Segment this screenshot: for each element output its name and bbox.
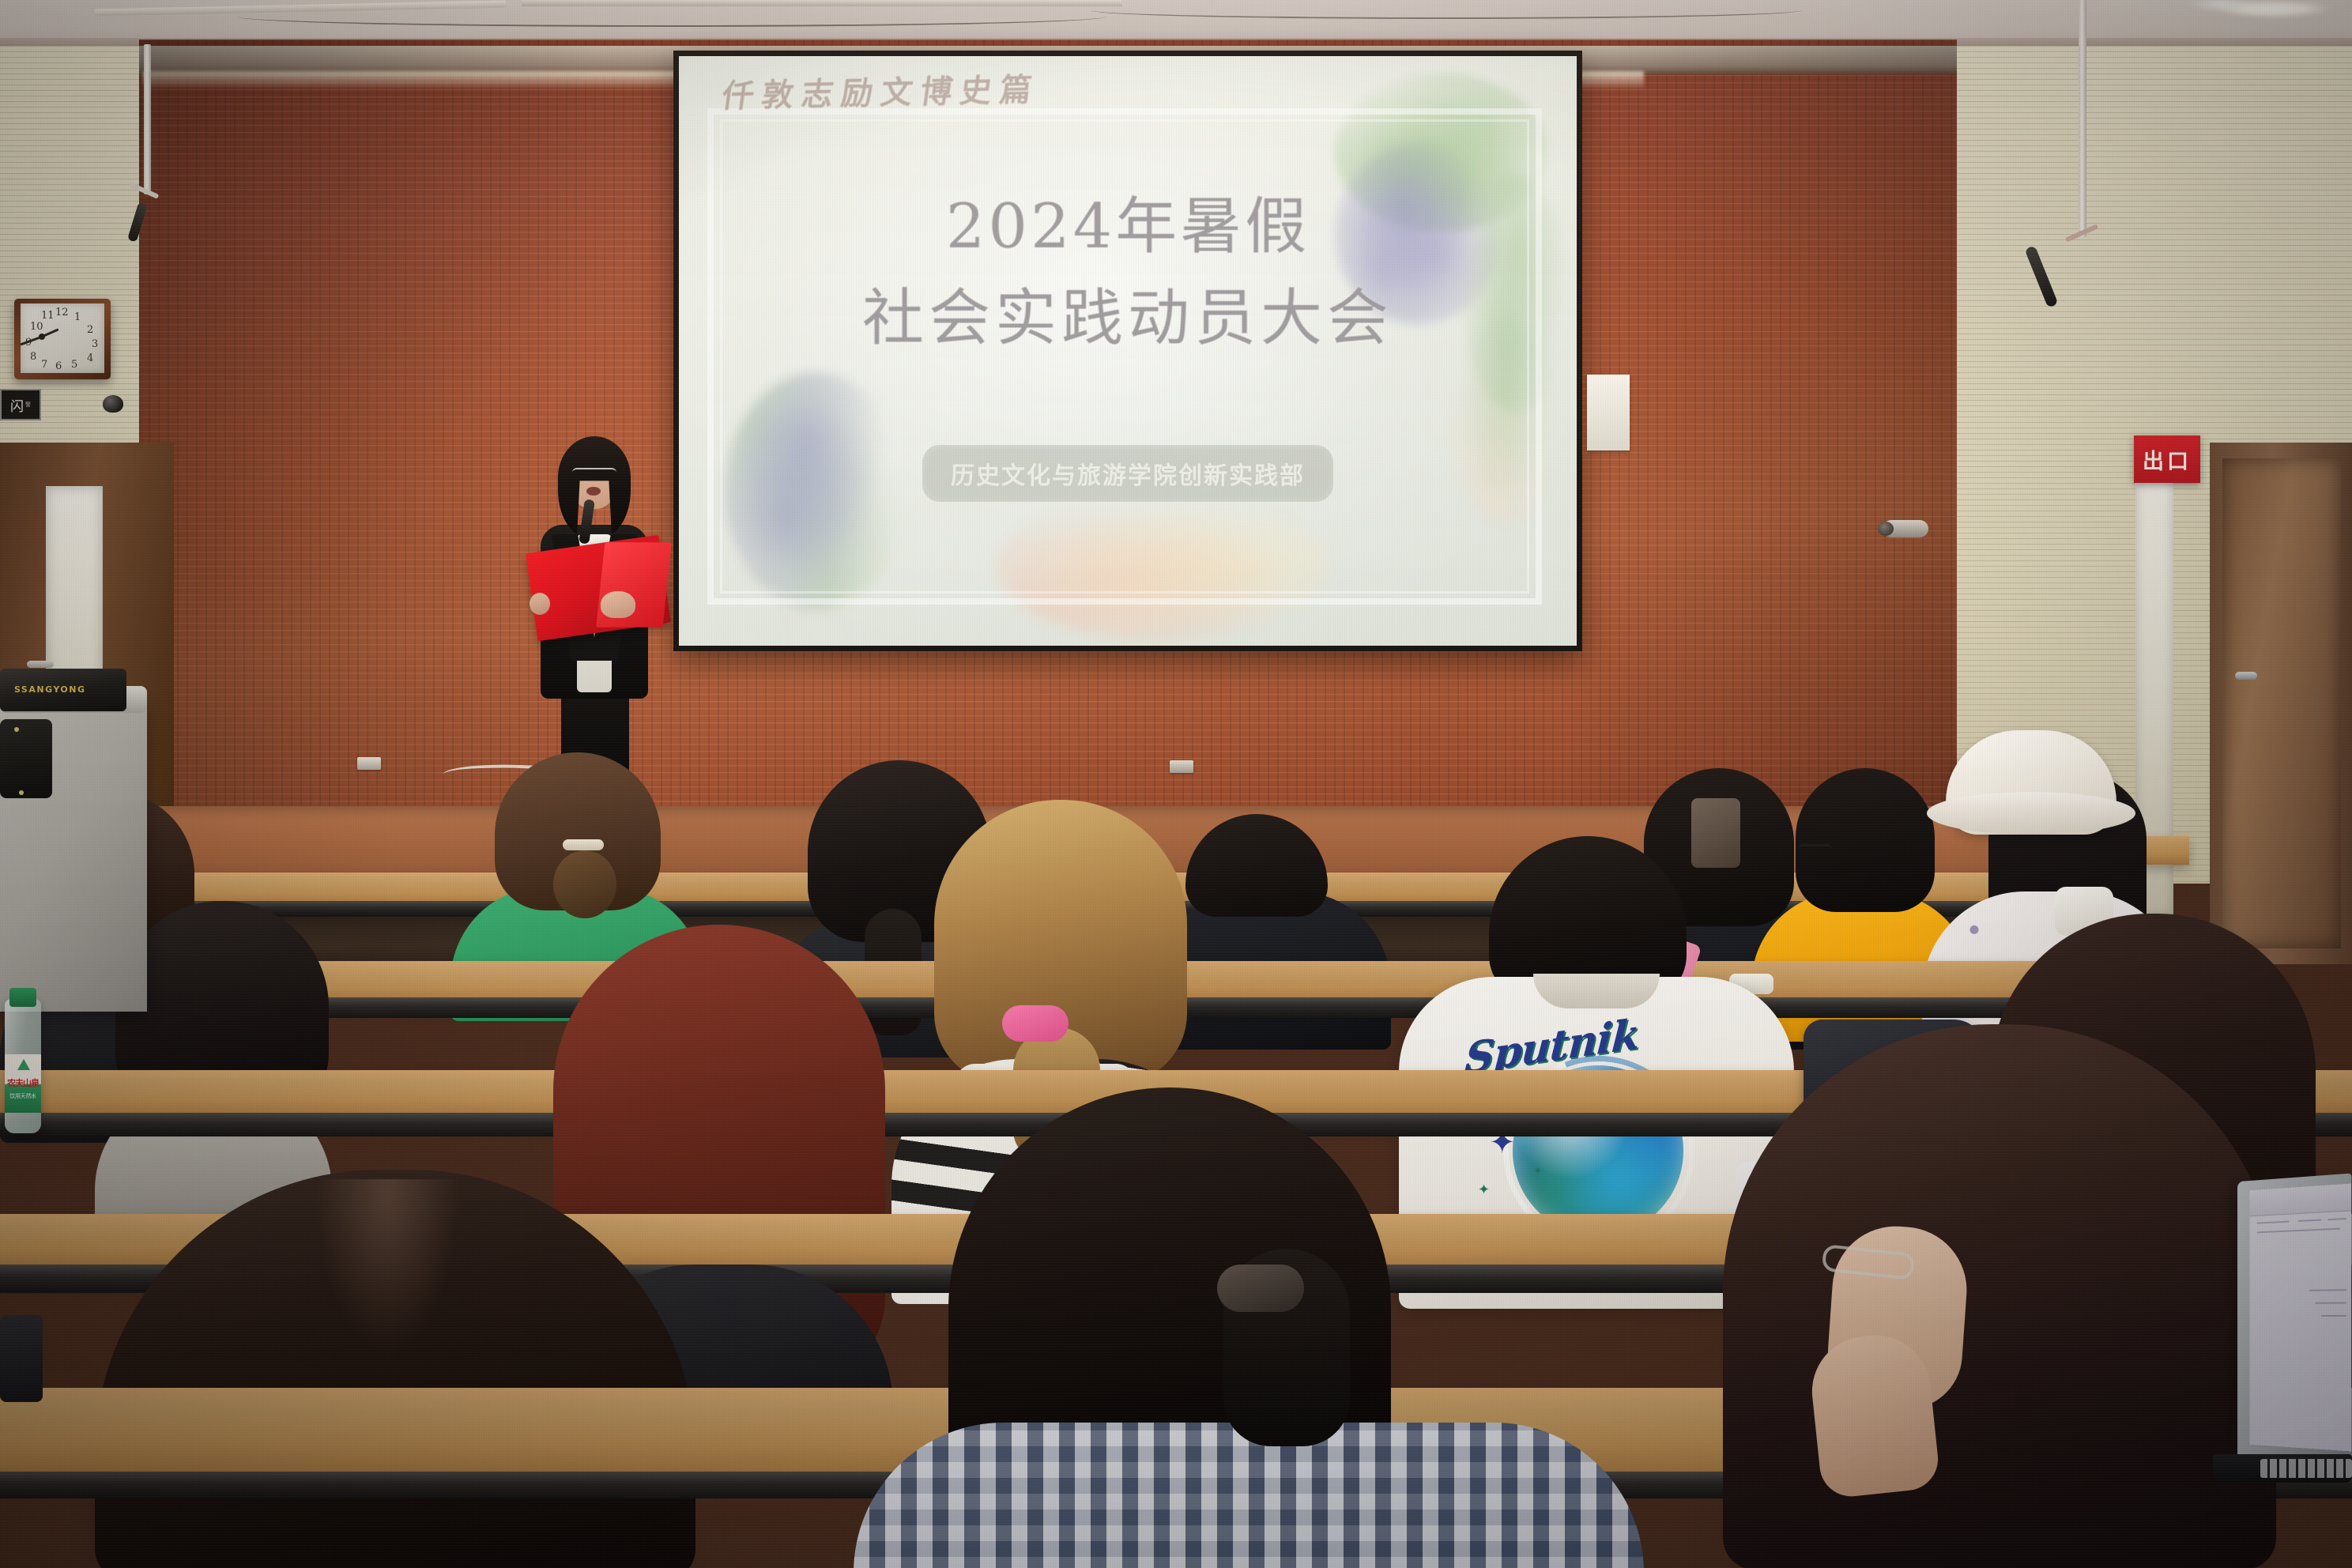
slide-subtitle-label: 历史文化与旅游学院创新实践部	[951, 456, 1305, 491]
clock-numeral: 2	[87, 324, 93, 336]
floor-power-socket	[357, 757, 381, 770]
placard-glyph: 闪	[10, 395, 24, 415]
hair-tie	[563, 839, 604, 850]
eyeglasses-icon	[572, 468, 616, 477]
hair-scrunchie	[1002, 1005, 1069, 1042]
clock-numeral: 11	[41, 310, 55, 322]
laptop-screen[interactable]	[2249, 1184, 2351, 1452]
audience-glasses-woman	[1723, 1024, 2276, 1568]
clock-numeral: 5	[71, 359, 77, 371]
clock-numeral: 4	[87, 352, 93, 364]
right-door[interactable]	[2222, 458, 2341, 948]
lecture-hall-photo: 12 1 2 3 4 5 6 7 8 9 10 11 2:50 闪 警 出口	[0, 0, 2352, 1568]
exit-sign-label: 出口	[2143, 444, 2192, 475]
clock-numeral: 1	[74, 311, 81, 323]
presenter-right-hand	[601, 591, 635, 618]
presenter-left-hand	[530, 593, 550, 615]
ceiling-light-strip	[522, 0, 1122, 6]
slide-title-line-2: 社会实践动员大会	[679, 287, 1577, 352]
audience-hair	[1796, 768, 1935, 912]
female-presenter	[512, 424, 675, 795]
motion-sensor-dome	[103, 395, 123, 413]
bottle-cap	[9, 988, 36, 1007]
placard-sub-glyph: 警	[25, 401, 31, 409]
hair-clip-icon	[1691, 798, 1740, 868]
microphone-pole	[2079, 0, 2086, 237]
clock-numeral: 10	[30, 321, 43, 333]
eyeglasses-icon	[1799, 844, 1832, 854]
ceiling-wire	[237, 6, 1106, 27]
slide-title-block: 2024年暑假 社会实践动员大会	[679, 195, 1577, 352]
slide-inner-border	[720, 119, 1529, 594]
audience-ponytail	[553, 850, 616, 918]
clock-numeral: 7	[41, 359, 47, 371]
clock-numeral: 6	[55, 360, 62, 372]
star-icon: ✦	[1478, 1182, 1490, 1197]
ceiling-wire	[1091, 2, 1802, 19]
smartphone[interactable]	[0, 1315, 43, 1402]
microphone-pole	[144, 44, 151, 194]
exit-sign: 出口	[2134, 435, 2200, 483]
posted-paper-sheet	[1587, 375, 1630, 450]
hair-parting-highlight	[316, 1179, 458, 1353]
audience-plaid-shirt	[854, 1423, 1644, 1568]
bucket-hat-brim	[1927, 792, 2135, 835]
calligraphy-watermark: 仟敦志励文博史篇	[719, 64, 1042, 116]
clock-numeral: 12	[55, 307, 69, 318]
shirt-collar	[1533, 974, 1660, 1008]
panel-screw	[19, 790, 24, 795]
star-icon: ✦	[1533, 1165, 1543, 1176]
clock-numeral: 3	[92, 338, 98, 350]
bottle-subtitle: 饮用天然水	[6, 1092, 40, 1100]
podium-microphone	[27, 661, 54, 668]
wall-placard: 闪 警	[0, 389, 41, 420]
ceiling-lamp-glow	[2186, 0, 2257, 11]
projected-slide: 仟敦志励文博史篇 2024年暑假 社会实践动员大会 历史文化与旅游学院创新实践部	[679, 56, 1577, 646]
slide-title-line-1: 2024年暑假	[679, 195, 1577, 260]
presenter-mouth	[586, 487, 601, 496]
projection-screen: 仟敦志励文博史篇 2024年暑假 社会实践动员大会 历史文化与旅游学院创新实践部	[673, 51, 1582, 651]
podium-brand-plate: SSANGYONG	[14, 684, 86, 695]
door-handle[interactable]	[2235, 672, 2257, 680]
laptop-keyboard[interactable]	[2260, 1459, 2352, 1478]
panel-screw	[14, 727, 19, 732]
podium-access-panel[interactable]	[0, 719, 52, 798]
speaker-cone-icon	[1878, 522, 1894, 536]
clock-center-pin	[39, 334, 45, 340]
hair-tie	[1217, 1265, 1304, 1312]
bottle-brand-name: 农夫山泉	[6, 1076, 40, 1089]
clock-numeral: 8	[30, 351, 36, 363]
floor-power-socket	[1170, 760, 1193, 773]
slide-subtitle-pill: 历史文化与旅游学院创新实践部	[922, 445, 1333, 502]
